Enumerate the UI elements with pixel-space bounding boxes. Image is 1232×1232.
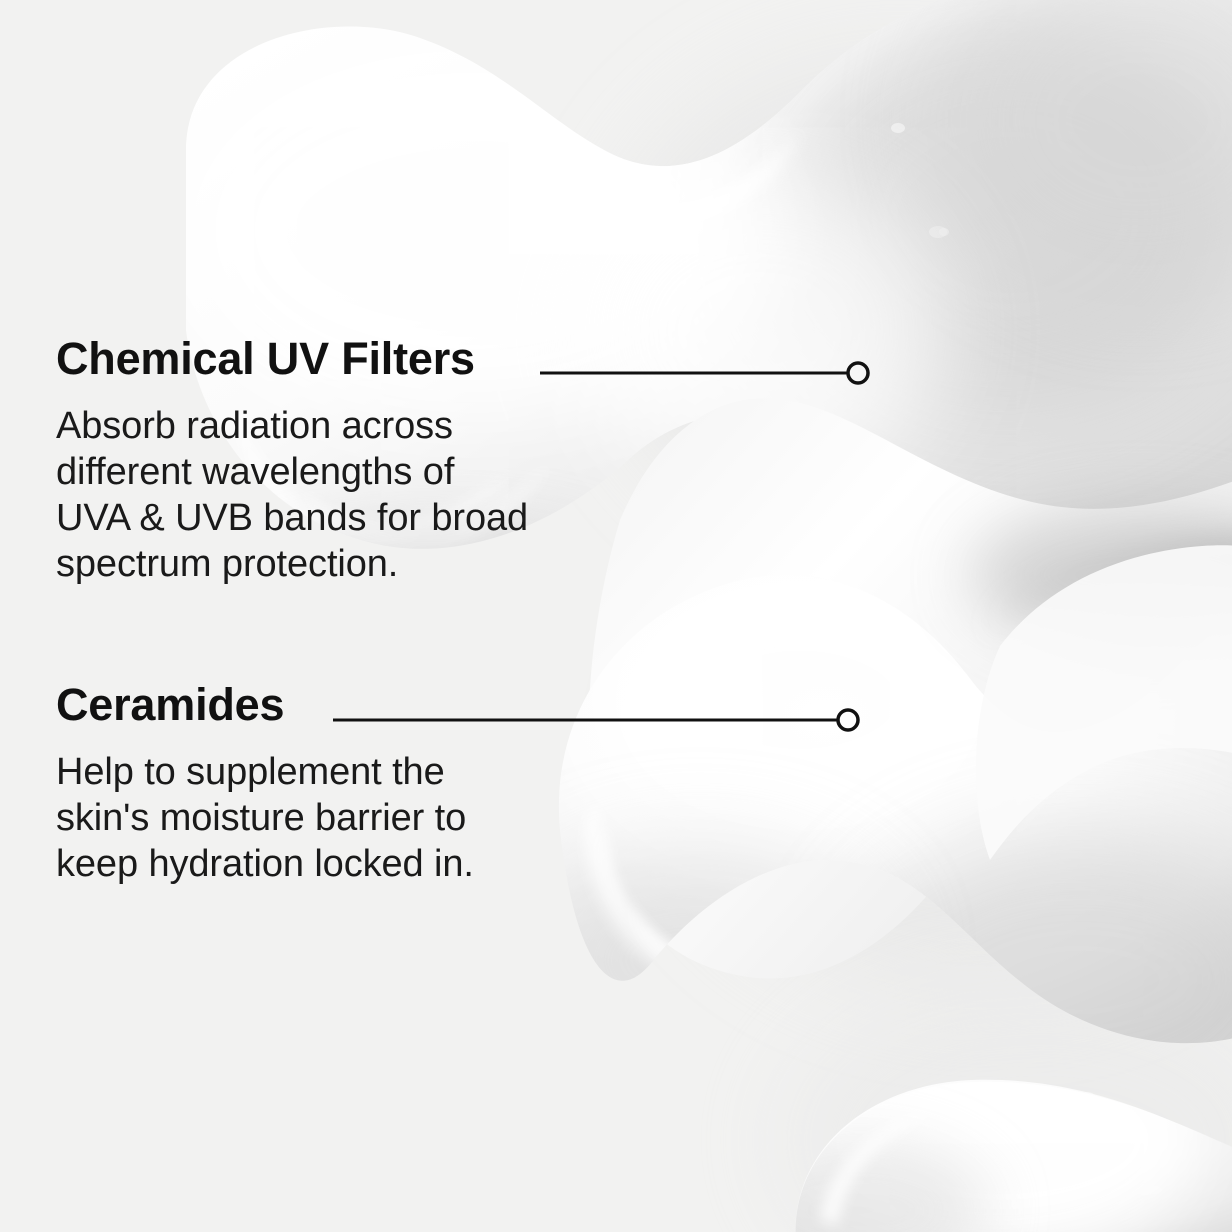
callout-body-line: skin's moisture barrier to xyxy=(56,795,474,841)
callout-chemical-uv-filters: Chemical UV Filters Absorb radiation acr… xyxy=(56,336,528,587)
callout-body-line: UVA & UVB bands for broad xyxy=(56,495,528,541)
callout-body-line: Help to supplement the xyxy=(56,749,474,795)
callout-body-line: spectrum protection. xyxy=(56,541,528,587)
callout-body-line: different wavelengths of xyxy=(56,449,528,495)
callout-heading-ceramides: Ceramides xyxy=(56,682,474,727)
callout-layer: Chemical UV Filters Absorb radiation acr… xyxy=(0,0,1232,1232)
callout-ceramides: Ceramides Help to supplement the skin's … xyxy=(56,682,474,887)
callout-body-ceramides: Help to supplement the skin's moisture b… xyxy=(56,727,474,887)
infographic-canvas: Chemical UV Filters Absorb radiation acr… xyxy=(0,0,1232,1232)
callout-body-chemical-uv-filters: Absorb radiation across different wavele… xyxy=(56,381,528,587)
callout-body-line: Absorb radiation across xyxy=(56,403,528,449)
callout-body-line: keep hydration locked in. xyxy=(56,841,474,887)
callout-heading-chemical-uv-filters: Chemical UV Filters xyxy=(56,336,528,381)
